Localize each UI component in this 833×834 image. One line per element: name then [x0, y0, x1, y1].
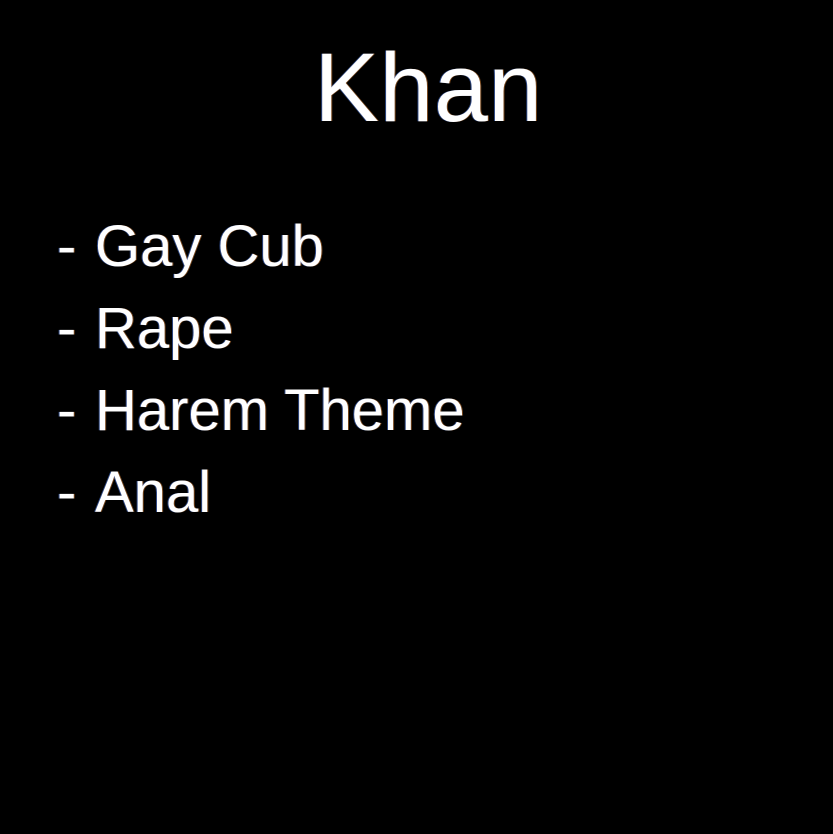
list-item: - Rape — [57, 300, 777, 382]
page-title-text: Khan — [314, 38, 543, 138]
bullet-list: - Gay Cub - Rape - Harem Theme - Anal — [57, 218, 777, 546]
list-item-label: Harem Theme — [95, 382, 465, 440]
list-item: - Anal — [57, 464, 777, 546]
bullet-marker-icon: - — [57, 218, 95, 276]
slide-canvas: Khan - Gay Cub - Rape - Harem Theme - An… — [0, 0, 833, 834]
list-item-label: Gay Cub — [95, 218, 324, 276]
list-item: - Harem Theme — [57, 382, 777, 464]
bullet-marker-icon: - — [57, 382, 95, 440]
list-item-label: Anal — [95, 464, 211, 522]
list-item-label: Rape — [95, 300, 234, 358]
list-item: - Gay Cub — [57, 218, 777, 300]
page-title: Khan — [0, 38, 833, 138]
bullet-marker-icon: - — [57, 300, 95, 358]
bullet-marker-icon: - — [57, 464, 95, 522]
